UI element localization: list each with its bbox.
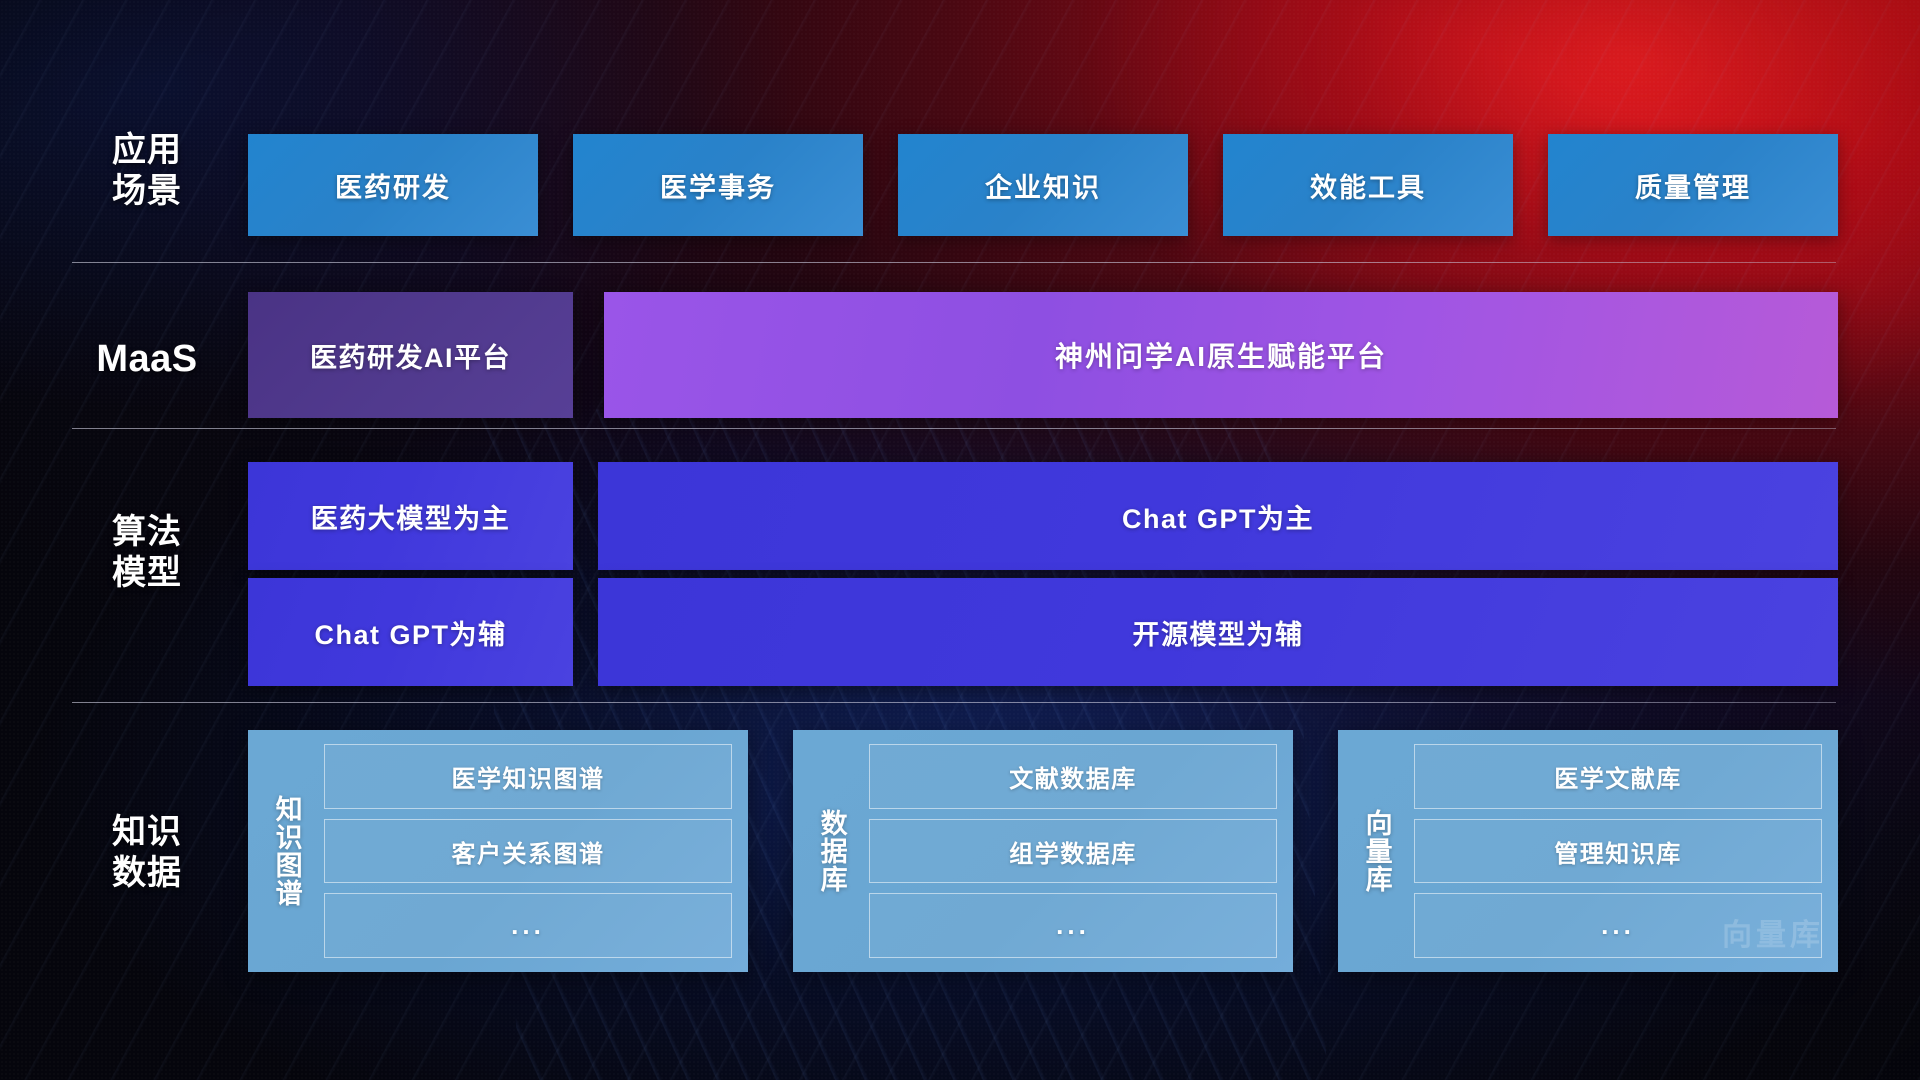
row-label-scenarios-line2: 场景 — [72, 171, 222, 212]
row-label-algorithm-line1: 算法 — [72, 512, 222, 553]
scenario-box-1-label: 医药研发 — [335, 166, 451, 205]
scenario-box-2[interactable]: 医学事务 — [573, 134, 863, 236]
algo-box-left-primary[interactable]: 医药大模型为主 — [248, 462, 573, 570]
architecture-diagram: 应用 场景 医药研发 医学事务 企业知识 效能工具 质量管理 MaaS 医药研发… — [0, 0, 1920, 1080]
knowledge-card-graph[interactable]: 知识图谱 医学知识图谱 客户关系图谱 ... — [248, 730, 748, 972]
scenario-box-5[interactable]: 质量管理 — [1548, 134, 1838, 236]
knowledge-item-vector-1[interactable]: 医学文献库 — [1414, 744, 1822, 809]
knowledge-card-graph-items: 医学知识图谱 客户关系图谱 ... — [324, 744, 732, 958]
divider-2 — [72, 428, 1836, 429]
scenario-box-2-label: 医学事务 — [660, 166, 776, 205]
scenario-box-3-label: 企业知识 — [985, 166, 1101, 205]
algo-box-right-primary[interactable]: Chat GPT为主 — [598, 462, 1838, 570]
row-label-maas-text: MaaS — [72, 336, 222, 382]
row-label-scenarios-line1: 应用 — [72, 130, 222, 171]
slide-canvas: 应用 场景 医药研发 医学事务 企业知识 效能工具 质量管理 MaaS 医药研发… — [0, 0, 1920, 1080]
divider-1 — [72, 262, 1836, 263]
knowledge-item-database-1[interactable]: 文献数据库 — [869, 744, 1277, 809]
scenario-box-1[interactable]: 医药研发 — [248, 134, 538, 236]
divider-3 — [72, 702, 1836, 703]
maas-box-drug-ai-platform[interactable]: 医药研发AI平台 — [248, 292, 573, 418]
maas-box-shenzhou-platform-label: 神州问学AI原生赋能平台 — [1055, 335, 1387, 375]
knowledge-item-database-2[interactable]: 组学数据库 — [869, 819, 1277, 884]
algo-box-left-primary-label: 医药大模型为主 — [311, 497, 511, 536]
knowledge-item-vector-2[interactable]: 管理知识库 — [1414, 819, 1822, 884]
knowledge-item-vector-3[interactable]: ... — [1414, 893, 1822, 958]
knowledge-card-vector-items: 医学文献库 管理知识库 ... — [1414, 744, 1822, 958]
maas-box-shenzhou-platform[interactable]: 神州问学AI原生赋能平台 — [604, 292, 1838, 418]
knowledge-card-graph-title: 知识图谱 — [260, 744, 312, 958]
knowledge-card-database-title: 数据库 — [805, 744, 857, 958]
algo-box-right-primary-label: Chat GPT为主 — [1122, 497, 1314, 536]
row-label-scenarios: 应用 场景 — [72, 130, 222, 213]
knowledge-card-database-items: 文献数据库 组学数据库 ... — [869, 744, 1277, 958]
row-label-knowledge: 知识 数据 — [72, 812, 222, 895]
knowledge-card-vector[interactable]: 向量库 医学文献库 管理知识库 ... — [1338, 730, 1838, 972]
scenario-box-4-label: 效能工具 — [1310, 166, 1426, 205]
knowledge-card-vector-title: 向量库 — [1350, 744, 1402, 958]
algo-box-left-secondary[interactable]: Chat GPT为辅 — [248, 578, 573, 686]
knowledge-item-database-3[interactable]: ... — [869, 893, 1277, 958]
row-label-algorithm: 算法 模型 — [72, 512, 222, 595]
knowledge-item-graph-3[interactable]: ... — [324, 893, 732, 958]
scenario-box-5-label: 质量管理 — [1635, 166, 1751, 205]
algo-box-left-secondary-label: Chat GPT为辅 — [314, 613, 506, 652]
row-label-maas: MaaS — [72, 336, 222, 382]
algo-box-right-secondary-label: 开源模型为辅 — [1133, 613, 1304, 652]
scenario-box-3[interactable]: 企业知识 — [898, 134, 1188, 236]
knowledge-card-database[interactable]: 数据库 文献数据库 组学数据库 ... — [793, 730, 1293, 972]
maas-box-drug-ai-platform-label: 医药研发AI平台 — [310, 336, 511, 375]
row-label-algorithm-line2: 模型 — [72, 553, 222, 594]
algo-box-right-secondary[interactable]: 开源模型为辅 — [598, 578, 1838, 686]
row-label-knowledge-line2: 数据 — [72, 853, 222, 894]
scenario-box-4[interactable]: 效能工具 — [1223, 134, 1513, 236]
row-label-knowledge-line1: 知识 — [72, 812, 222, 853]
knowledge-item-graph-1[interactable]: 医学知识图谱 — [324, 744, 732, 809]
knowledge-item-graph-2[interactable]: 客户关系图谱 — [324, 819, 732, 884]
